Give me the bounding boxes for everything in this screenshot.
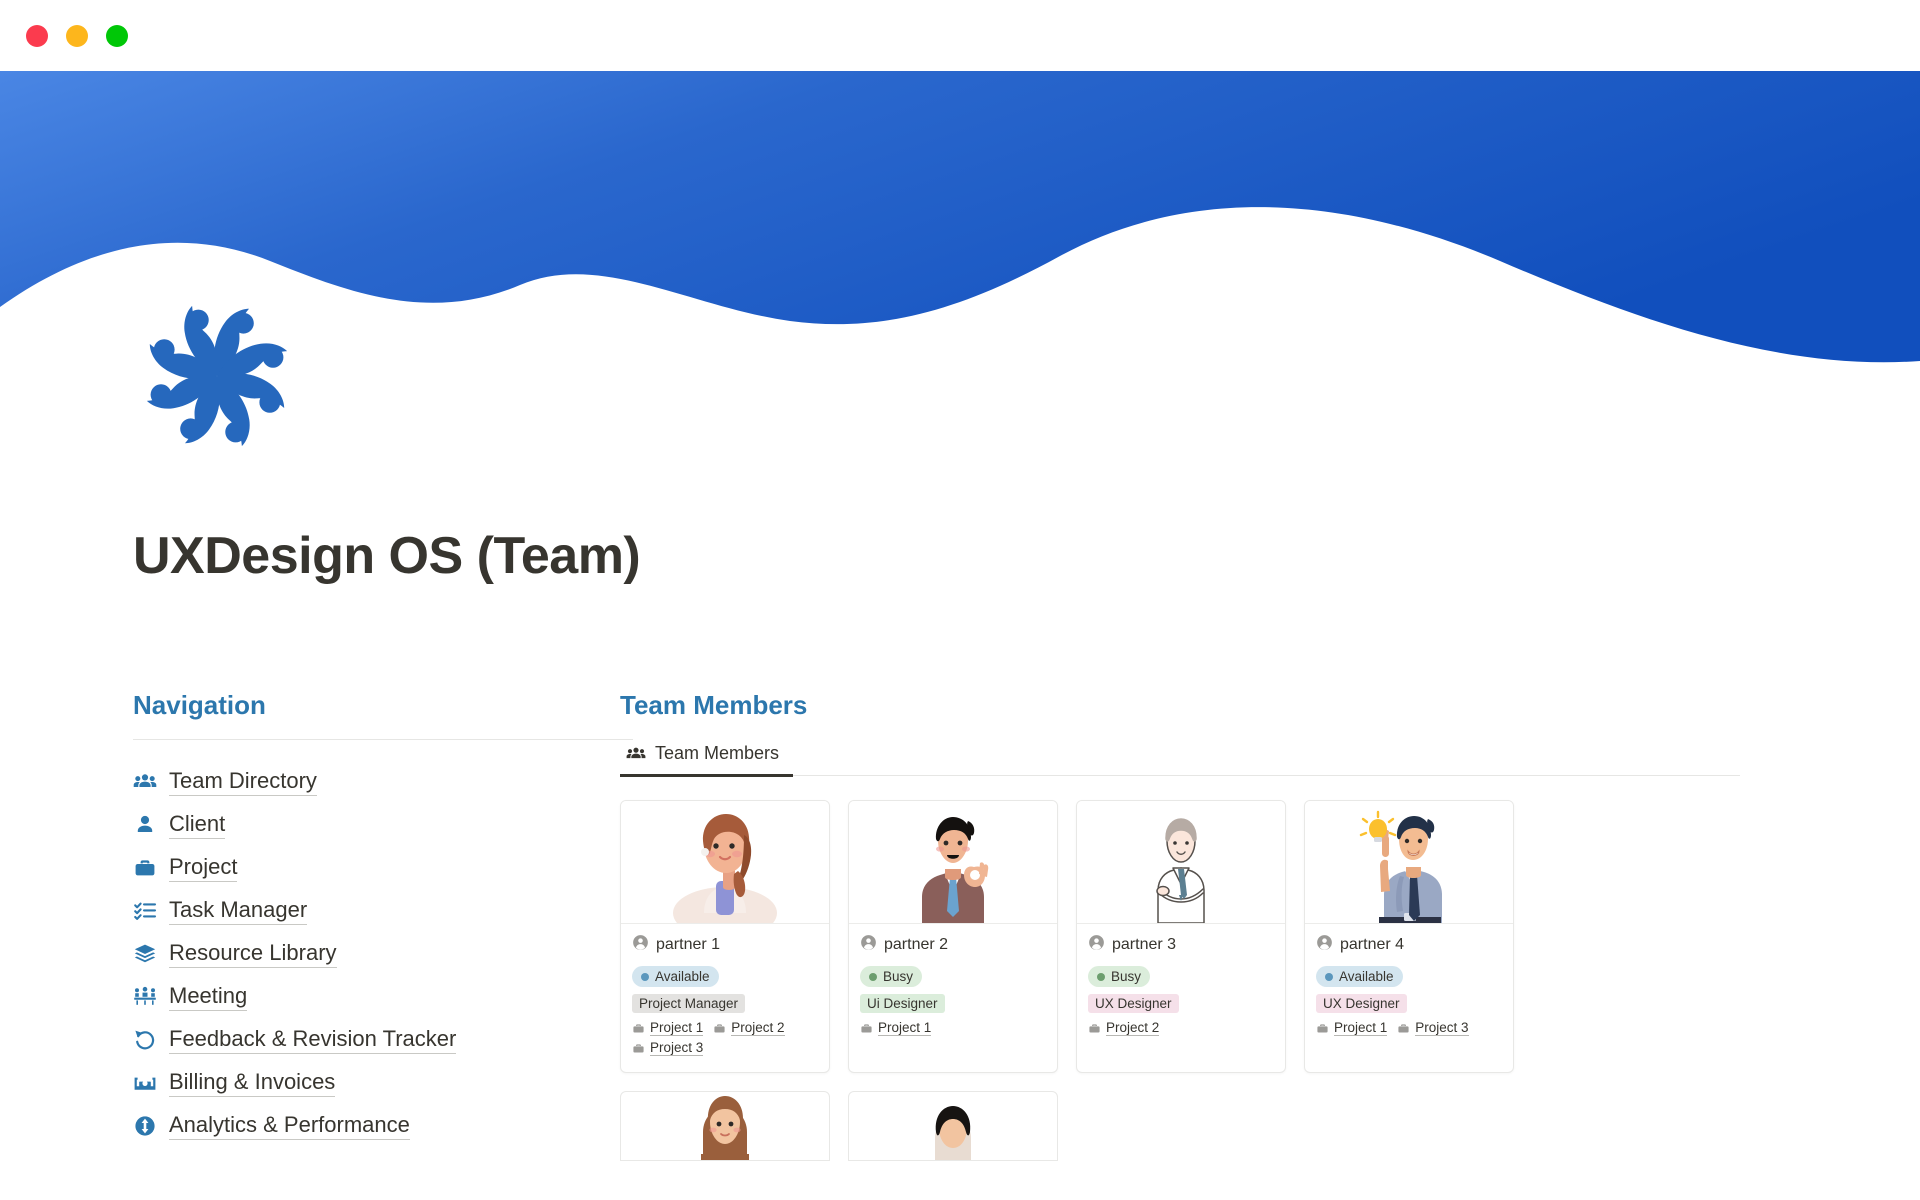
maximize-window-button[interactable] xyxy=(106,25,128,47)
status-label: Busy xyxy=(883,969,913,984)
avatar-circle-icon xyxy=(1088,934,1105,956)
status-label: Busy xyxy=(1111,969,1141,984)
member-card[interactable]: partner 1 Available Project Manager Proj… xyxy=(620,800,830,1073)
status-badge: Busy xyxy=(1088,966,1150,987)
sidebar-item-billing-invoices[interactable]: Billing & Invoices xyxy=(133,1061,560,1104)
sidebar-item-label: Resource Library xyxy=(169,939,337,968)
member-name-row: partner 4 xyxy=(1316,934,1502,956)
traffic-light-controls xyxy=(26,25,128,47)
project-label: Project 1 xyxy=(1334,1020,1387,1036)
project-link[interactable]: Project 2 xyxy=(1088,1020,1159,1036)
sidebar-item-analytics-performance[interactable]: Analytics & Performance xyxy=(133,1104,560,1147)
status-badge: Available xyxy=(632,966,719,987)
briefcase-icon xyxy=(632,1022,645,1035)
project-links: Project 1 xyxy=(860,1020,1046,1036)
meeting-table-icon xyxy=(133,985,157,1009)
project-links: Project 1 Project 2 Project 3 xyxy=(632,1020,818,1056)
status-badge: Available xyxy=(1316,966,1403,987)
briefcase-icon xyxy=(1316,1022,1329,1035)
member-name: partner 4 xyxy=(1340,936,1404,954)
project-label: Project 1 xyxy=(650,1020,703,1036)
man-curly-black-hair-ok-gesture-avatar xyxy=(849,801,1057,924)
analytics-arrows-icon xyxy=(133,1114,157,1138)
checklist-icon xyxy=(133,899,157,923)
sidebar-item-label: Feedback & Revision Tracker xyxy=(169,1025,456,1054)
navigation-heading: Navigation xyxy=(133,690,560,721)
project-link[interactable]: Project 3 xyxy=(632,1040,703,1056)
member-name-row: partner 2 xyxy=(860,934,1046,956)
page-title: UXDesign OS (Team) xyxy=(133,526,640,586)
member-card[interactable] xyxy=(848,1091,1058,1161)
page-content: UXDesign OS (Team) Navigation Team D xyxy=(0,0,1920,1200)
sidebar-item-label: Project xyxy=(169,853,237,882)
team-members-heading: Team Members xyxy=(620,690,1790,721)
project-label: Project 2 xyxy=(1106,1020,1159,1036)
sidebar-item-label: Client xyxy=(169,810,225,839)
member-card[interactable]: partner 3 Busy UX Designer Project 2 xyxy=(1076,800,1286,1073)
sidebar-item-task-manager[interactable]: Task Manager xyxy=(133,889,560,932)
navigation-divider xyxy=(133,739,633,740)
project-label: Project 3 xyxy=(650,1040,703,1056)
people-group-icon xyxy=(626,744,646,764)
navigation-column: Navigation Team Directory xyxy=(0,690,560,1147)
project-links: Project 1 Project 3 xyxy=(1316,1020,1502,1036)
team-tabs-bar: Team Members xyxy=(620,739,1740,776)
team-members-grid-next-row xyxy=(620,1091,1790,1161)
minimize-window-button[interactable] xyxy=(66,25,88,47)
project-label: Project 1 xyxy=(878,1020,931,1036)
person-icon xyxy=(133,813,157,837)
window-title-bar xyxy=(0,0,1920,71)
member-name: partner 1 xyxy=(656,936,720,954)
status-label: Available xyxy=(655,969,710,984)
status-dot-icon xyxy=(1097,973,1105,981)
sidebar-item-meeting[interactable]: Meeting xyxy=(133,975,560,1018)
briefcase-icon xyxy=(860,1022,873,1035)
status-label: Available xyxy=(1339,969,1394,984)
woman-long-brown-hair-avatar xyxy=(685,1092,765,1161)
pinwheel-logo-glyph xyxy=(137,296,297,456)
member-card-body: partner 3 Busy UX Designer Project 2 xyxy=(1077,924,1285,1052)
briefcase-icon xyxy=(713,1022,726,1035)
role-tag: Ui Designer xyxy=(860,994,945,1013)
history-undo-icon xyxy=(133,1028,157,1052)
member-card-body: partner 4 Available UX Designer Project … xyxy=(1305,924,1513,1052)
layers-icon xyxy=(133,942,157,966)
people-group-icon xyxy=(133,770,157,794)
role-tag: UX Designer xyxy=(1088,994,1179,1013)
avatar-circle-icon xyxy=(1316,934,1333,956)
briefcase-icon xyxy=(1397,1022,1410,1035)
project-link[interactable]: Project 2 xyxy=(713,1020,784,1036)
sidebar-item-resource-library[interactable]: Resource Library xyxy=(133,932,560,975)
project-link[interactable]: Project 3 xyxy=(1397,1020,1468,1036)
banknote-icon xyxy=(133,1071,157,1095)
member-card[interactable]: partner 2 Busy Ui Designer Project 1 xyxy=(848,800,1058,1073)
member-card[interactable] xyxy=(620,1091,830,1161)
status-dot-icon xyxy=(1325,973,1333,981)
sidebar-item-label: Team Directory xyxy=(169,767,317,796)
status-badge: Busy xyxy=(860,966,922,987)
team-members-column: Team Members Team Members xyxy=(560,690,1790,1161)
project-link[interactable]: Project 1 xyxy=(1316,1020,1387,1036)
sidebar-item-label: Task Manager xyxy=(169,896,307,925)
member-name: partner 3 xyxy=(1112,936,1176,954)
briefcase-icon xyxy=(1088,1022,1101,1035)
role-tag: UX Designer xyxy=(1316,994,1407,1013)
sidebar-item-project[interactable]: Project xyxy=(133,846,560,889)
sidebar-item-team-directory[interactable]: Team Directory xyxy=(133,760,560,803)
member-name-row: partner 1 xyxy=(632,934,818,956)
member-card[interactable]: partner 4 Available UX Designer Project … xyxy=(1304,800,1514,1073)
avatar-circle-icon xyxy=(632,934,649,956)
sidebar-item-label: Analytics & Performance xyxy=(169,1111,410,1140)
sidebar-item-client[interactable]: Client xyxy=(133,803,560,846)
status-dot-icon xyxy=(869,973,877,981)
status-dot-icon xyxy=(641,973,649,981)
project-label: Project 2 xyxy=(731,1020,784,1036)
man-arms-crossed-lineart-avatar xyxy=(1077,801,1285,924)
person-black-hair-avatar xyxy=(913,1092,993,1161)
project-links: Project 2 xyxy=(1088,1020,1274,1036)
navigation-list: Team Directory Client xyxy=(133,760,560,1147)
sidebar-item-feedback-revision-tracker[interactable]: Feedback & Revision Tracker xyxy=(133,1018,560,1061)
tab-label: Team Members xyxy=(655,743,779,764)
avatar-circle-icon xyxy=(860,934,877,956)
close-window-button[interactable] xyxy=(26,25,48,47)
team-members-grid: partner 1 Available Project Manager Proj… xyxy=(620,800,1790,1073)
member-name-row: partner 3 xyxy=(1088,934,1274,956)
project-label: Project 3 xyxy=(1415,1020,1468,1036)
briefcase-icon xyxy=(632,1042,645,1055)
member-card-body: partner 1 Available Project Manager Proj… xyxy=(621,924,829,1072)
project-link[interactable]: Project 1 xyxy=(860,1020,931,1036)
woman-auburn-hair-avatar xyxy=(621,801,829,924)
team-pinwheel-logo xyxy=(137,296,297,456)
sidebar-item-label: Meeting xyxy=(169,982,247,1011)
man-idea-lightbulb-avatar xyxy=(1305,801,1513,924)
briefcase-icon xyxy=(133,856,157,880)
member-name: partner 2 xyxy=(884,936,948,954)
sidebar-item-label: Billing & Invoices xyxy=(169,1068,335,1097)
member-card-body: partner 2 Busy Ui Designer Project 1 xyxy=(849,924,1057,1052)
project-link[interactable]: Project 1 xyxy=(632,1020,703,1036)
tab-team-members[interactable]: Team Members xyxy=(620,739,793,777)
role-tag: Project Manager xyxy=(632,994,745,1013)
